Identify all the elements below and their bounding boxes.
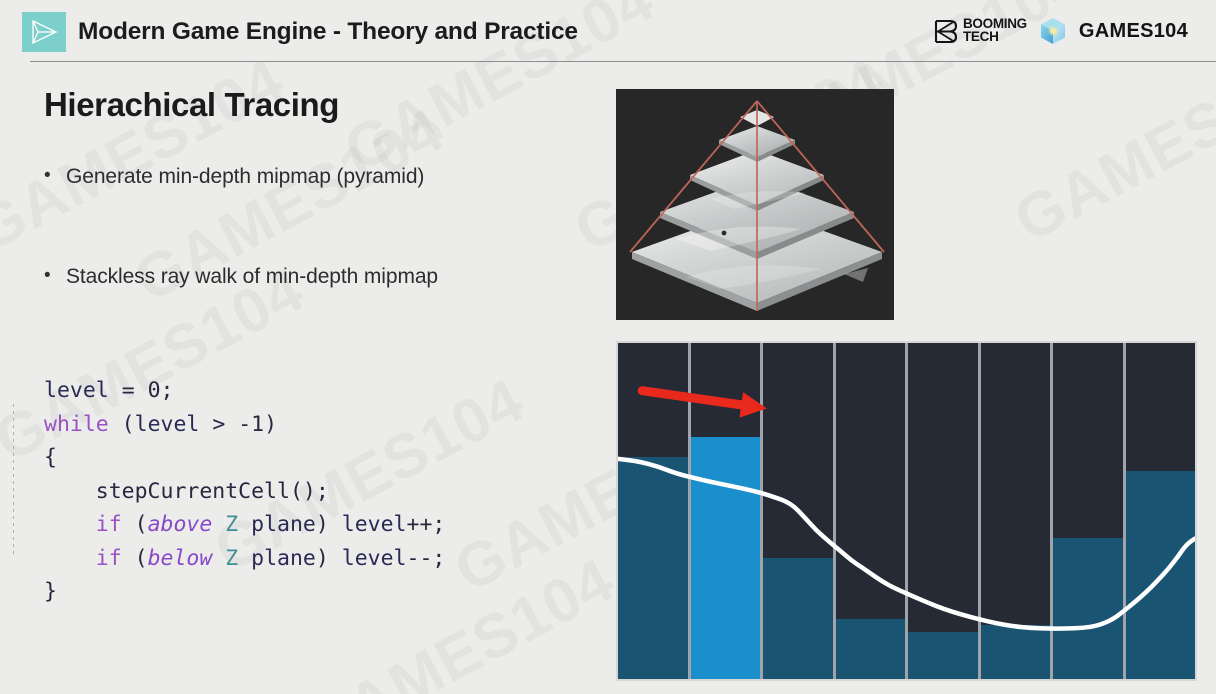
watermark-games104: GAMES104 <box>1003 35 1216 257</box>
code-token-op: ++; <box>407 512 446 537</box>
bullet-text: Stackless ray walk of min-depth mipmap <box>66 263 438 291</box>
code-line: stepCurrentCell(); <box>44 475 445 509</box>
code-token-punct <box>212 546 225 571</box>
code-token-ident: level <box>342 512 407 537</box>
code-token-brace: { <box>44 445 57 470</box>
code-token-punct <box>44 546 96 571</box>
code-token-punct <box>199 412 212 437</box>
code-token-ident: level <box>135 412 200 437</box>
code-token-punct <box>238 546 251 571</box>
games104-wordmark: GAMES104 <box>1079 20 1188 43</box>
code-token-ident: plane <box>251 512 316 537</box>
code-token-ident: level <box>44 378 109 403</box>
slide-header: Modern Game Engine - Theory and Practice… <box>0 0 1216 66</box>
code-token-param: above <box>148 512 213 537</box>
bullet-text: Generate min-depth mipmap (pyramid) <box>66 163 424 191</box>
booming-tech-logo: BOOMING TECH <box>932 18 1027 45</box>
code-token-kw: while <box>44 412 109 437</box>
code-token-punct <box>135 378 148 403</box>
brand-logos: BOOMING TECH GAMES104 <box>932 16 1188 46</box>
ray-direction-arrow <box>642 391 767 418</box>
code-line: if (above Z plane) level++; <box>44 508 445 542</box>
code-line: { <box>44 441 445 475</box>
code-token-punct: ) <box>316 546 342 571</box>
list-item: •Stackless ray walk of min-depth mipmap <box>44 263 604 291</box>
code-token-param: below <box>148 546 213 571</box>
code-token-type: Z <box>225 546 238 571</box>
code-token-punct: ) <box>264 412 277 437</box>
code-block: level = 0;while (level > -1){ stepCurren… <box>44 374 445 609</box>
code-token-punct <box>225 412 238 437</box>
code-token-punct: ) <box>316 512 342 537</box>
surface-curve <box>618 459 1195 629</box>
mipmap-pyramid-figure <box>616 89 894 320</box>
booming-line-2: TECH <box>963 31 1027 44</box>
course-logo <box>22 12 66 52</box>
list-item: •Generate min-depth mipmap (pyramid) <box>44 163 604 191</box>
page-title: Hierachical Tracing <box>44 86 339 124</box>
code-line: while (level > -1) <box>44 408 445 442</box>
code-token-brace: } <box>44 579 57 604</box>
code-token-op: = <box>122 378 135 403</box>
bullet-marker-icon: • <box>44 163 66 189</box>
code-token-punct <box>212 512 225 537</box>
header-divider <box>30 61 1216 62</box>
play-triangle-wireframe-icon <box>29 19 59 45</box>
code-token-punct <box>109 378 122 403</box>
code-token-num: -1 <box>238 412 264 437</box>
code-token-type: Z <box>225 512 238 537</box>
code-token-punct: ( <box>122 546 148 571</box>
code-token-punct: (); <box>290 479 329 504</box>
bullet-list: •Generate min-depth mipmap (pyramid)•Sta… <box>44 163 604 364</box>
code-token-ident: level <box>342 546 407 571</box>
code-token-kw: if <box>96 546 122 571</box>
chart-overlay <box>618 343 1195 679</box>
code-token-punct <box>44 512 96 537</box>
code-token-num: 0 <box>148 378 161 403</box>
code-token-punct <box>238 512 251 537</box>
code-token-op: > <box>212 412 225 437</box>
booming-b-monogram-icon <box>932 18 959 45</box>
code-line: if (below Z plane) level--; <box>44 542 445 576</box>
code-line: level = 0; <box>44 374 445 408</box>
course-title: Modern Game Engine - Theory and Practice <box>78 18 578 46</box>
code-line: } <box>44 575 445 609</box>
code-token-punct: ; <box>161 378 174 403</box>
code-token-punct: ( <box>122 512 148 537</box>
code-token-func: stepCurrentCell <box>44 479 290 504</box>
code-token-op: --; <box>407 546 446 571</box>
bullet-marker-icon: • <box>44 263 66 289</box>
code-indent-guide <box>13 404 14 554</box>
code-token-ident: plane <box>251 546 316 571</box>
booming-tech-wordmark: BOOMING TECH <box>963 18 1027 43</box>
games104-cube-icon <box>1038 16 1068 46</box>
code-token-punct: ( <box>109 412 135 437</box>
code-token-kw: if <box>96 512 122 537</box>
mipmap-walk-chart <box>616 341 1197 681</box>
pyramid-illustration <box>616 89 894 320</box>
